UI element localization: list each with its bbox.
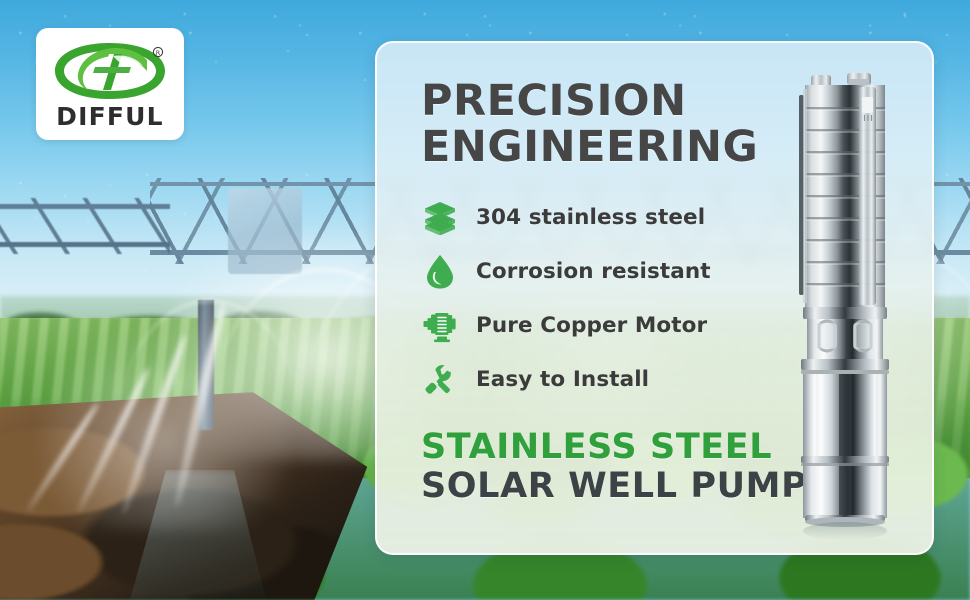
electric-motor-icon bbox=[421, 306, 459, 344]
svg-text:R: R bbox=[156, 49, 161, 57]
list-item: Easy to Install bbox=[421, 352, 751, 406]
feature-label: 304 stainless steel bbox=[476, 205, 705, 230]
feature-label: Pure Copper Motor bbox=[476, 313, 707, 338]
product-banner: R DIFFUL PRECISION ENGINEERING bbox=[0, 0, 970, 600]
feature-label: Corrosion resistant bbox=[476, 259, 711, 284]
brand-logo-badge[interactable]: R DIFFUL bbox=[36, 28, 184, 140]
brand-name: DIFFUL bbox=[56, 104, 164, 129]
wrench-screwdriver-icon bbox=[421, 360, 459, 398]
list-item: 304 stainless steel bbox=[421, 190, 751, 244]
list-item: Pure Copper Motor bbox=[421, 298, 751, 352]
boom-head-panel bbox=[228, 188, 302, 274]
content-card: PRECISION ENGINEERING bbox=[375, 41, 934, 555]
boom-support-leg bbox=[198, 300, 214, 430]
difful-swirl-logo-icon: R bbox=[51, 40, 169, 102]
feature-label: Easy to Install bbox=[476, 367, 649, 392]
feature-list: 304 stainless steel Corrosion resistant bbox=[421, 190, 751, 406]
product-image-pump bbox=[789, 63, 901, 543]
list-item: Corrosion resistant bbox=[421, 244, 751, 298]
water-droplet-icon bbox=[421, 252, 459, 290]
boom-arm-left bbox=[0, 198, 170, 254]
stacked-sheets-icon bbox=[421, 198, 459, 236]
